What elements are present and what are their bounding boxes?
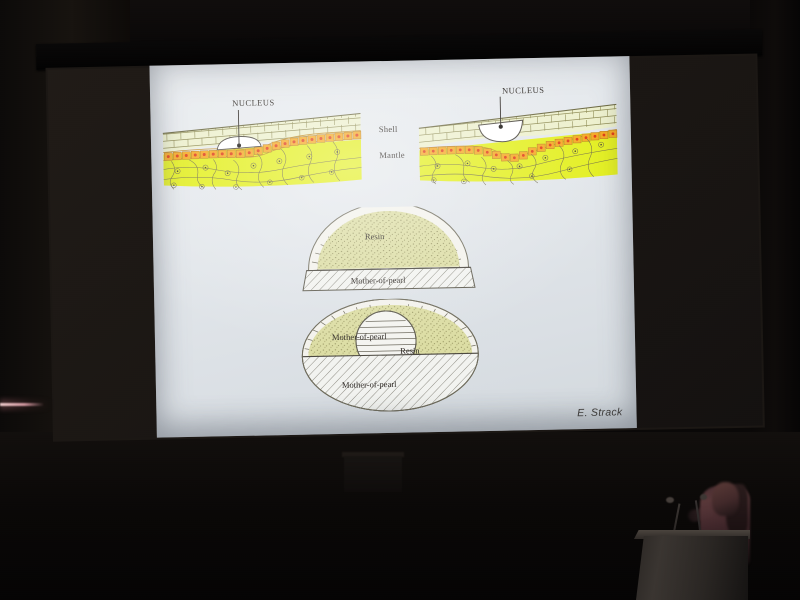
speaker-head <box>712 482 739 516</box>
label-nucleus-right: NUCLEUS <box>502 85 545 96</box>
microphone-head-right <box>700 494 707 500</box>
label-mop-sphere: Mother-of-pearl <box>332 331 387 342</box>
figure-mantle-right <box>418 90 620 188</box>
edge-light-streak <box>0 403 44 406</box>
label-mop-base: Mother-of-pearl <box>342 379 397 390</box>
figure-pearl-composite <box>297 297 483 417</box>
figure-mantle-left <box>160 101 367 195</box>
slide-credit: E. Strack <box>577 406 623 419</box>
projected-slide: NUCLEUS Shell Mantle <box>149 56 636 438</box>
podium <box>636 536 748 600</box>
label-shell: Shell <box>379 124 398 134</box>
label-resin-mabe: Resin <box>365 231 385 241</box>
label-nucleus-left: NUCLEUS <box>232 97 275 108</box>
label-mop-mabe: Mother-of-pearl <box>351 275 406 286</box>
lecture-hall-scene: NUCLEUS Shell Mantle <box>0 0 800 600</box>
floor-object <box>344 456 402 492</box>
microphone-head-left <box>666 497 674 503</box>
label-mantle: Mantle <box>379 150 405 161</box>
label-resin-composite: Resin <box>400 345 420 355</box>
projection-screen: NUCLEUS Shell Mantle <box>36 29 772 444</box>
